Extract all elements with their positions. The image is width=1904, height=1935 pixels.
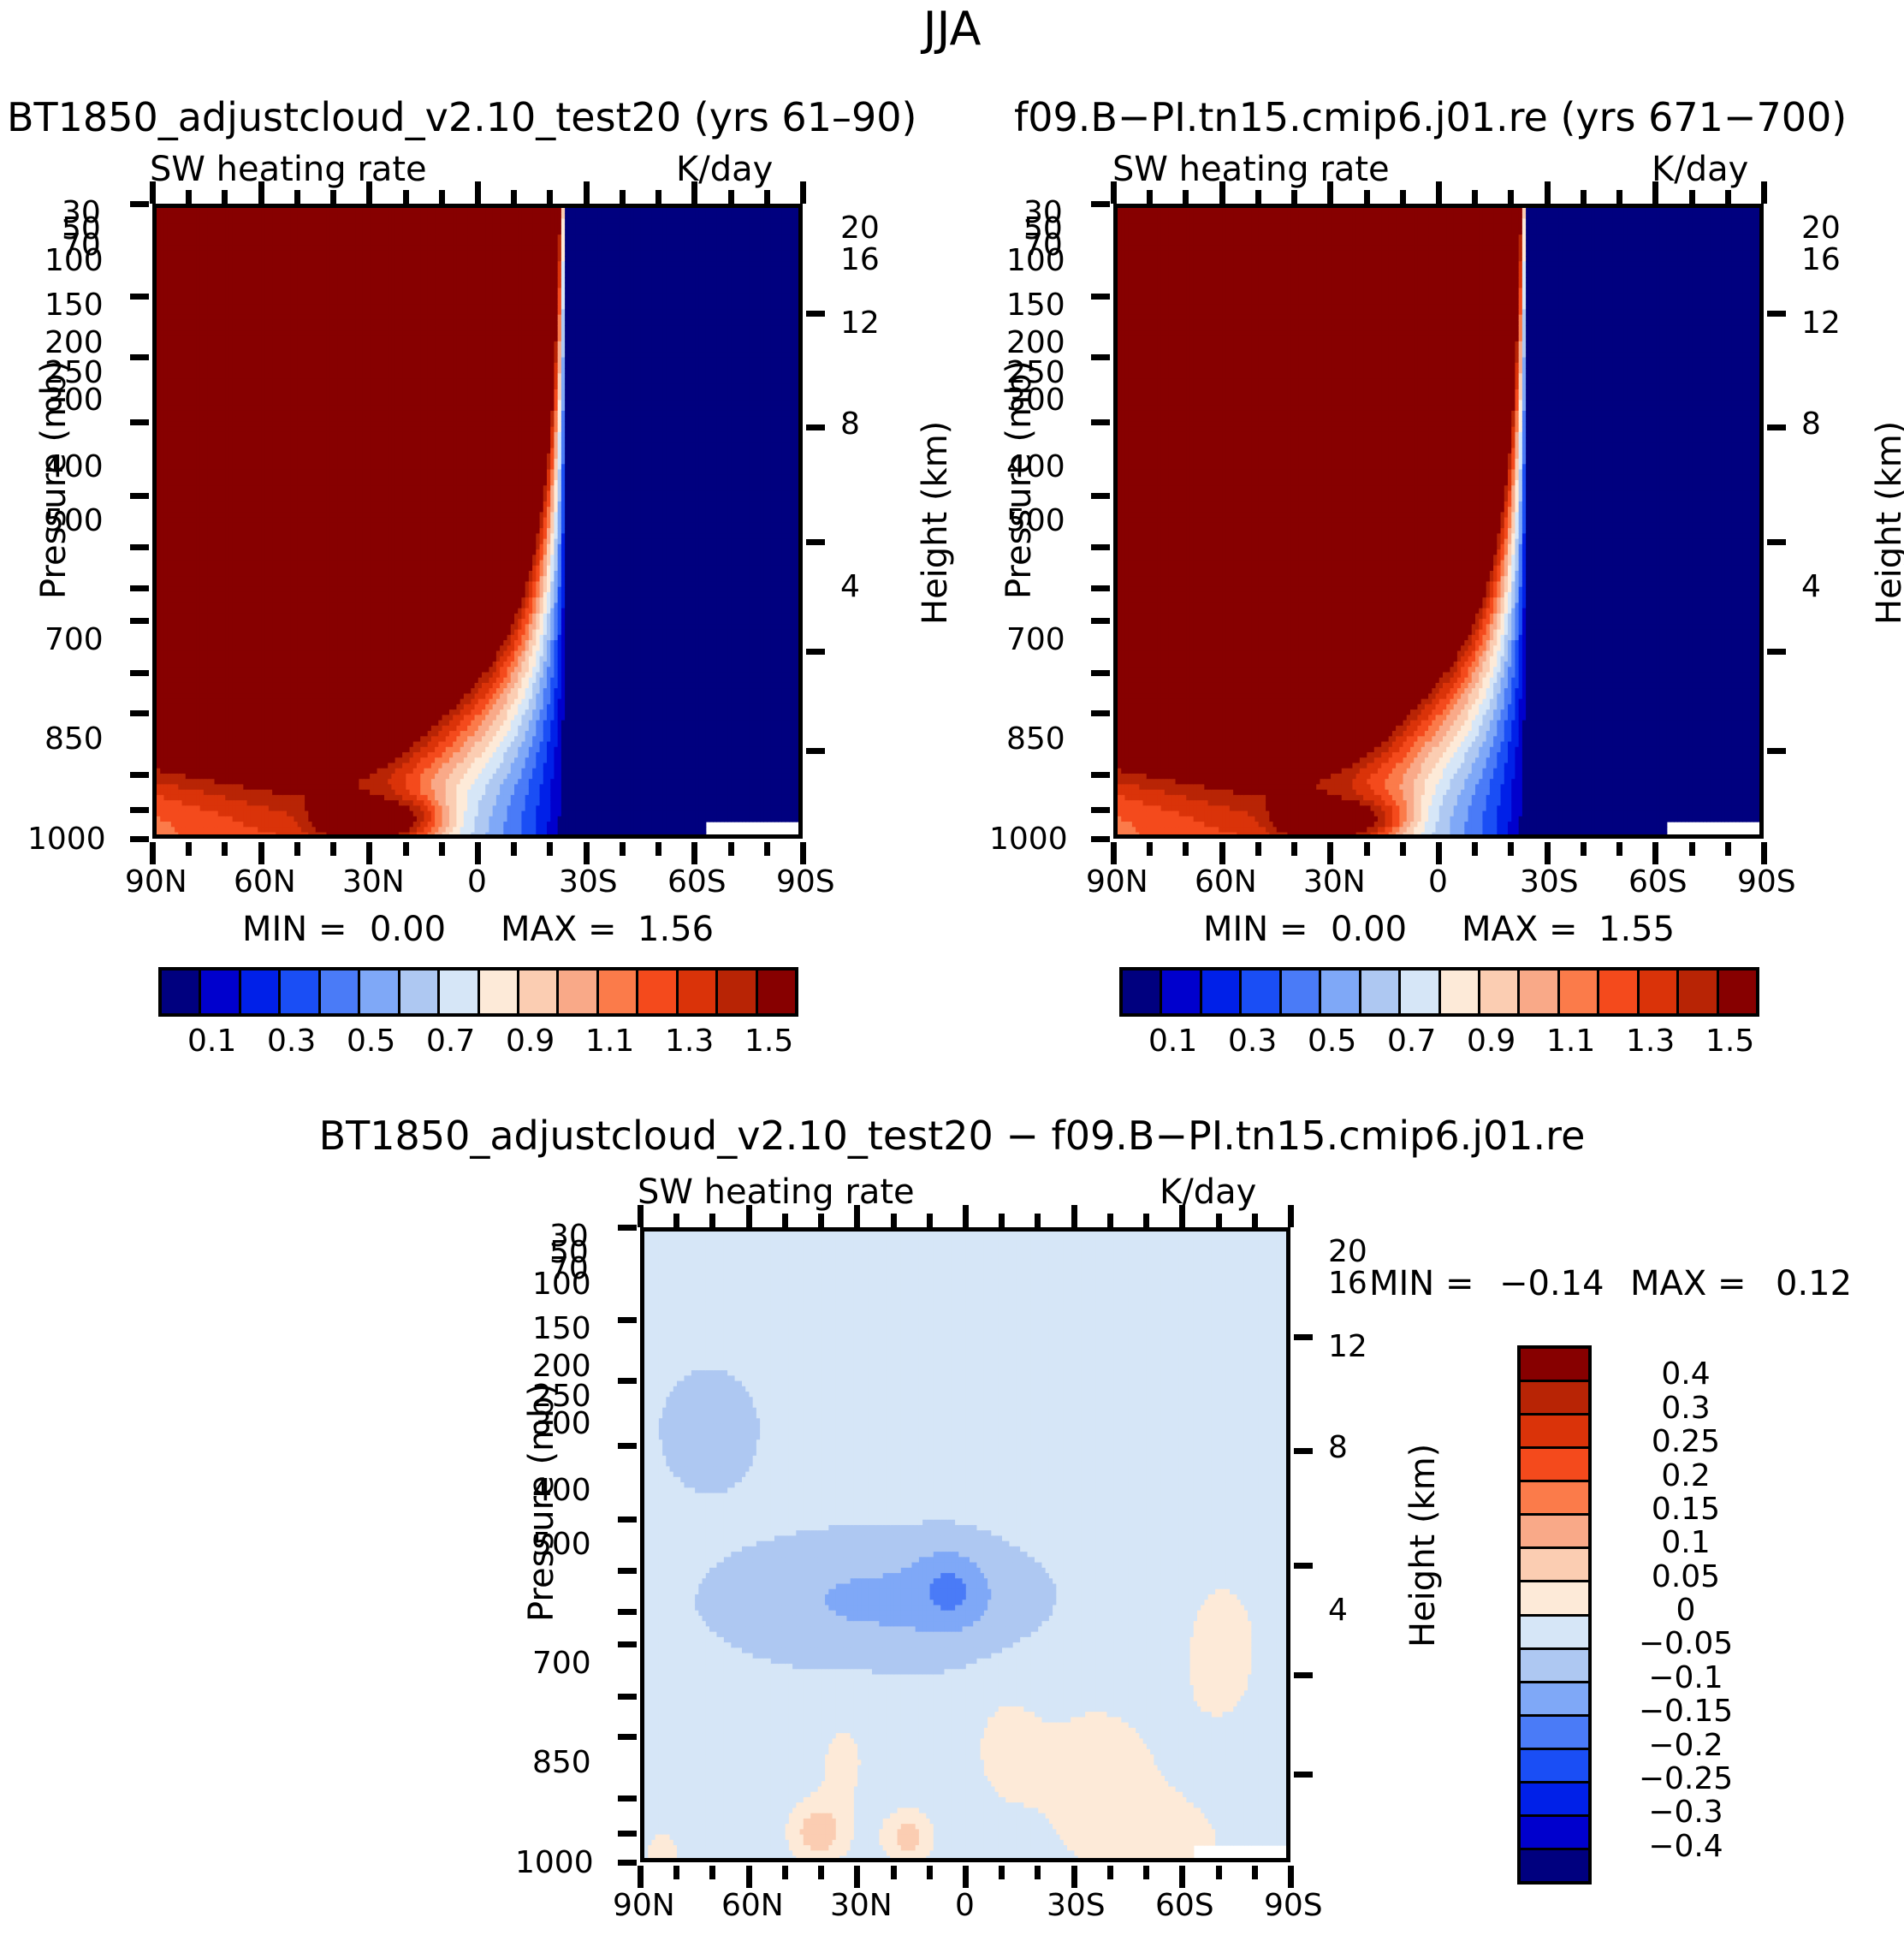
y-tick-mark xyxy=(618,1796,637,1801)
right-colorbar[interactable] xyxy=(1119,967,1759,1017)
ytick-700: 700 xyxy=(44,622,104,657)
x-minor-tick-mark xyxy=(1689,190,1695,204)
x-major-tick-mark xyxy=(1652,181,1658,204)
y-tick-mark xyxy=(1091,772,1110,778)
x-minor-tick-mark xyxy=(620,842,626,856)
x-minor-tick-mark xyxy=(673,1866,679,1879)
y-tick-mark xyxy=(1091,354,1110,360)
x-minor-tick-mark xyxy=(186,842,192,856)
diff-min-value: −0.14 xyxy=(1499,1264,1604,1303)
diff-colorbar-swatch-6 xyxy=(1521,1549,1588,1582)
x-minor-tick-mark xyxy=(1400,190,1406,204)
r-xtick-30S: 30S xyxy=(1520,864,1579,899)
height-tick-mark xyxy=(1767,748,1786,754)
y-tick-mark xyxy=(1091,618,1110,624)
x-major-tick-mark xyxy=(746,1205,752,1227)
colorbar-swatch-11 xyxy=(1560,970,1599,1013)
height-tick-mark xyxy=(1294,1563,1313,1569)
right-cb-lbl-5: 1.1 xyxy=(1546,1024,1595,1059)
diff-colorbar-labels: 0.40.30.250.20.150.10.050−0.05−0.1−0.15−… xyxy=(1609,1345,1823,1885)
y-tick-mark xyxy=(130,201,149,207)
colorbar-swatch-9 xyxy=(519,970,559,1013)
y-tick-mark xyxy=(1091,836,1110,842)
x-major-tick-mark xyxy=(366,181,372,204)
diff-colorbar-swatch-7 xyxy=(1521,1582,1588,1616)
x-minor-tick-mark xyxy=(673,1214,679,1227)
diff-colorbar-swatch-5 xyxy=(1521,1516,1588,1549)
right-cb-lbl-2: 0.5 xyxy=(1308,1024,1356,1059)
diff-units-label: K/day xyxy=(1160,1172,1256,1212)
right-contour-plot[interactable] xyxy=(1113,204,1764,839)
colorbar-swatch-3 xyxy=(281,970,320,1013)
x-minor-tick-mark xyxy=(728,190,734,204)
xtick-30N: 30N xyxy=(342,864,405,899)
diff-colorbar-label-12: −0.25 xyxy=(1609,1761,1763,1796)
x-major-tick-mark xyxy=(638,1205,644,1227)
diff-colorbar-label-11: −0.2 xyxy=(1609,1728,1763,1763)
r-ytick-700: 700 xyxy=(1006,622,1065,657)
x-minor-tick-mark xyxy=(764,842,770,856)
right-cb-lbl-1: 0.3 xyxy=(1228,1024,1277,1059)
diff-colorbar-swatch-10 xyxy=(1521,1683,1588,1717)
right-cb-lbl-4: 0.9 xyxy=(1467,1024,1515,1059)
colorbar-swatch-8 xyxy=(480,970,519,1013)
ytick-300: 300 xyxy=(44,383,104,418)
height-tick-mark xyxy=(1294,1448,1313,1454)
left-units-label: K/day xyxy=(676,150,773,189)
x-major-tick-mark xyxy=(1436,842,1442,864)
d-xtick-90N: 90N xyxy=(613,1888,675,1923)
y-tick-mark xyxy=(130,294,149,300)
x-major-tick-mark xyxy=(1071,1866,1077,1888)
x-minor-tick-mark xyxy=(1107,1866,1113,1879)
r-xtick-0: 0 xyxy=(1428,864,1448,899)
left-max-label: MAX = xyxy=(501,910,617,949)
d-htick-16: 16 xyxy=(1328,1266,1367,1301)
x-major-tick-mark xyxy=(150,842,156,864)
y-tick-mark xyxy=(130,670,149,676)
colorbar-swatch-14 xyxy=(1679,970,1718,1013)
y-tick-mark xyxy=(1091,201,1110,207)
right-cb-lbl-6: 1.3 xyxy=(1626,1024,1675,1059)
diff-panel-title: BT1850_adjustcloud_v2.10_test20 − f09.B−… xyxy=(0,1113,1904,1159)
x-minor-tick-mark xyxy=(1291,842,1297,856)
height-tick-mark xyxy=(806,539,825,545)
left-min-value: 0.00 xyxy=(370,910,446,949)
x-minor-tick-mark xyxy=(1616,190,1622,204)
y-tick-mark xyxy=(1091,294,1110,300)
right-panel-title: f09.B−PI.tn15.cmip6.j01.re (yrs 671−700) xyxy=(1014,94,1847,140)
x-major-tick-mark xyxy=(691,842,697,864)
colorbar-swatch-6 xyxy=(1361,970,1401,1013)
x-minor-tick-mark xyxy=(1689,842,1695,856)
x-major-tick-mark xyxy=(800,842,806,864)
y-tick-mark xyxy=(1091,807,1110,813)
y-tick-mark xyxy=(618,1641,637,1647)
x-minor-tick-mark xyxy=(728,842,734,856)
right-max-label: MAX = xyxy=(1462,910,1578,949)
colorbar-swatch-13 xyxy=(1640,970,1679,1013)
height-tick-mark xyxy=(1767,649,1786,655)
x-minor-tick-mark xyxy=(999,1866,1005,1879)
colorbar-swatch-4 xyxy=(321,970,360,1013)
x-minor-tick-mark xyxy=(1472,842,1478,856)
r-xtick-90S: 90S xyxy=(1737,864,1796,899)
x-minor-tick-mark xyxy=(1472,190,1478,204)
y-tick-mark xyxy=(1091,710,1110,716)
left-colorbar[interactable] xyxy=(158,967,798,1017)
y-tick-mark xyxy=(618,1225,637,1231)
r-ytick-1000: 1000 xyxy=(989,822,1068,857)
diff-colorbar-label-2: 0.25 xyxy=(1609,1424,1763,1459)
x-minor-tick-mark xyxy=(1508,190,1514,204)
height-tick-mark xyxy=(806,649,825,655)
xtick-60N: 60N xyxy=(234,864,296,899)
left-cb-lbl-2: 0.5 xyxy=(347,1024,395,1059)
x-major-tick-mark xyxy=(584,181,590,204)
x-major-tick-mark xyxy=(854,1866,860,1888)
y-tick-mark xyxy=(618,1694,637,1700)
x-minor-tick-mark xyxy=(818,1214,824,1227)
x-minor-tick-mark xyxy=(511,842,517,856)
x-minor-tick-mark xyxy=(222,842,228,856)
y-tick-mark xyxy=(1091,419,1110,425)
colorbar-swatch-7 xyxy=(440,970,479,1013)
right-cb-lbl-0: 0.1 xyxy=(1148,1024,1197,1059)
x-minor-tick-mark xyxy=(439,842,445,856)
r-htick-20: 20 xyxy=(1801,211,1841,246)
x-major-tick-mark xyxy=(1288,1866,1294,1888)
y-tick-mark xyxy=(130,354,149,360)
height-tick-mark xyxy=(1294,1334,1313,1340)
x-minor-tick-mark xyxy=(403,190,409,204)
left-var-label: SW heating rate xyxy=(150,150,427,189)
r-xtick-90N: 90N xyxy=(1086,864,1148,899)
x-minor-tick-mark xyxy=(1147,842,1153,856)
x-major-tick-mark xyxy=(854,1205,860,1227)
x-major-tick-mark xyxy=(1219,842,1225,864)
x-minor-tick-mark xyxy=(1400,842,1406,856)
colorbar-swatch-4 xyxy=(1282,970,1321,1013)
colorbar-swatch-13 xyxy=(679,970,718,1013)
y-tick-mark xyxy=(1091,493,1110,499)
x-minor-tick-mark xyxy=(403,842,409,856)
x-major-tick-mark xyxy=(800,181,806,204)
y-tick-mark xyxy=(618,1734,637,1740)
x-minor-tick-mark xyxy=(655,190,661,204)
x-major-tick-mark xyxy=(366,842,372,864)
ytick-150: 150 xyxy=(44,288,104,323)
x-major-tick-mark xyxy=(258,842,264,864)
height-tick-mark xyxy=(1294,1672,1313,1678)
x-major-tick-mark xyxy=(963,1205,969,1227)
y-tick-mark xyxy=(1091,544,1110,550)
x-minor-tick-mark xyxy=(1581,190,1587,204)
d-ytick-300: 300 xyxy=(532,1406,591,1441)
xtick-90S: 90S xyxy=(776,864,835,899)
diff-colorbar-label-0: 0.4 xyxy=(1609,1356,1763,1392)
x-minor-tick-mark xyxy=(1143,1214,1149,1227)
colorbar-swatch-2 xyxy=(241,970,281,1013)
diff-colorbar-swatch-2 xyxy=(1521,1416,1588,1449)
x-minor-tick-mark xyxy=(1616,842,1622,856)
d-ytick-400: 400 xyxy=(532,1473,591,1508)
x-minor-tick-mark xyxy=(891,1866,897,1879)
diff-min-label: MIN = xyxy=(1369,1264,1474,1303)
y-tick-mark xyxy=(130,772,149,778)
y-tick-mark xyxy=(130,419,149,425)
left-cb-lbl-5: 1.1 xyxy=(585,1024,634,1059)
x-major-tick-mark xyxy=(1179,1205,1185,1227)
diff-colorbar-swatch-1 xyxy=(1521,1382,1588,1416)
height-tick-mark xyxy=(1767,539,1786,545)
htick-4: 4 xyxy=(840,569,860,604)
x-major-tick-mark xyxy=(1219,181,1225,204)
diff-colorbar-label-9: −0.1 xyxy=(1609,1660,1763,1695)
r-ytick-850: 850 xyxy=(1006,721,1065,757)
r-htick-12: 12 xyxy=(1801,306,1841,341)
diff-colorbar-label-1: 0.3 xyxy=(1609,1391,1763,1426)
colorbar-swatch-0 xyxy=(1123,970,1162,1013)
right-var-label: SW heating rate xyxy=(1112,150,1390,189)
x-minor-tick-mark xyxy=(294,190,300,204)
y-tick-mark xyxy=(130,836,149,842)
diff-colorbar-label-3: 0.2 xyxy=(1609,1458,1763,1493)
left-cb-lbl-7: 1.5 xyxy=(744,1024,793,1059)
y-tick-mark xyxy=(130,493,149,499)
x-minor-tick-mark xyxy=(547,842,553,856)
x-minor-tick-mark xyxy=(927,1214,933,1227)
diff-colorbar-swatch-14 xyxy=(1521,1817,1588,1850)
y-tick-mark xyxy=(618,1378,637,1384)
diff-contour-plot[interactable] xyxy=(640,1227,1290,1862)
diff-var-label: SW heating rate xyxy=(638,1172,915,1212)
x-minor-tick-mark xyxy=(1252,1214,1258,1227)
r-ytick-400: 400 xyxy=(1006,449,1065,484)
d-ytick-100: 100 xyxy=(532,1267,591,1302)
colorbar-swatch-0 xyxy=(162,970,201,1013)
y-tick-mark xyxy=(618,1860,637,1866)
diff-colorbar-swatch-13 xyxy=(1521,1784,1588,1817)
y-tick-mark xyxy=(130,618,149,624)
d-xtick-60N: 60N xyxy=(721,1888,784,1923)
x-minor-tick-mark xyxy=(1107,1214,1113,1227)
x-major-tick-mark xyxy=(475,181,481,204)
d-ytick-1000: 1000 xyxy=(515,1845,594,1880)
x-minor-tick-mark xyxy=(1183,190,1189,204)
x-minor-tick-mark xyxy=(782,1214,788,1227)
height-tick-mark xyxy=(806,748,825,754)
r-ytick-300: 300 xyxy=(1006,383,1065,418)
colorbar-swatch-5 xyxy=(1321,970,1361,1013)
x-major-tick-mark xyxy=(1761,181,1767,204)
diff-colorbar-label-6: 0.05 xyxy=(1609,1559,1763,1594)
x-minor-tick-mark xyxy=(1147,190,1153,204)
left-cb-lbl-1: 0.3 xyxy=(267,1024,316,1059)
r-htick-8: 8 xyxy=(1801,407,1821,442)
xtick-30S: 30S xyxy=(559,864,618,899)
d-ytick-850: 850 xyxy=(532,1745,591,1780)
x-minor-tick-mark xyxy=(294,842,300,856)
x-minor-tick-mark xyxy=(511,190,517,204)
colorbar-swatch-3 xyxy=(1242,970,1281,1013)
y-tick-mark xyxy=(130,710,149,716)
x-minor-tick-mark xyxy=(1035,1866,1041,1879)
ytick-850: 850 xyxy=(44,721,104,757)
right-max-value: 1.55 xyxy=(1599,910,1675,949)
r-xtick-60N: 60N xyxy=(1195,864,1257,899)
r-htick-16: 16 xyxy=(1801,242,1841,277)
colorbar-swatch-15 xyxy=(1719,970,1756,1013)
diff-colorbar-label-7: 0 xyxy=(1609,1593,1763,1628)
x-minor-tick-mark xyxy=(1255,190,1261,204)
x-minor-tick-mark xyxy=(186,190,192,204)
x-minor-tick-mark xyxy=(439,190,445,204)
d-ytick-500: 500 xyxy=(532,1527,591,1562)
y-tick-mark xyxy=(618,1443,637,1449)
x-minor-tick-mark xyxy=(1216,1214,1222,1227)
right-cb-lbl-3: 0.7 xyxy=(1387,1024,1436,1059)
ytick-400: 400 xyxy=(44,449,104,484)
x-major-tick-mark xyxy=(1111,842,1117,864)
x-minor-tick-mark xyxy=(1216,1866,1222,1879)
x-minor-tick-mark xyxy=(1581,842,1587,856)
y-tick-mark xyxy=(618,1317,637,1323)
x-minor-tick-mark xyxy=(1255,842,1261,856)
x-minor-tick-mark xyxy=(818,1866,824,1879)
x-minor-tick-mark xyxy=(782,1866,788,1879)
x-major-tick-mark xyxy=(258,181,264,204)
height-tick-mark xyxy=(1294,1772,1313,1778)
colorbar-swatch-1 xyxy=(1162,970,1201,1013)
diff-colorbar-label-10: −0.15 xyxy=(1609,1694,1763,1729)
x-minor-tick-mark xyxy=(999,1214,1005,1227)
y-tick-mark xyxy=(618,1517,637,1522)
colorbar-swatch-9 xyxy=(1480,970,1520,1013)
left-min-label: MIN = xyxy=(242,910,347,949)
diff-colorbar-swatch-3 xyxy=(1521,1449,1588,1482)
diff-colorbar-label-8: −0.05 xyxy=(1609,1626,1763,1661)
x-minor-tick-mark xyxy=(620,190,626,204)
x-major-tick-mark xyxy=(1179,1866,1185,1888)
diff-max-label: MAX = xyxy=(1630,1264,1747,1303)
diff-colorbar-swatch-15 xyxy=(1521,1850,1588,1881)
right-min-label: MIN = xyxy=(1203,910,1308,949)
r-xtick-60S: 60S xyxy=(1628,864,1688,899)
colorbar-swatch-12 xyxy=(1599,970,1639,1013)
x-minor-tick-mark xyxy=(1291,190,1297,204)
y-tick-mark xyxy=(1091,670,1110,676)
right-height-axis-title: Height (km) xyxy=(1870,421,1904,625)
xtick-60S: 60S xyxy=(667,864,727,899)
left-contour-plot[interactable] xyxy=(152,204,803,839)
d-xtick-60S: 60S xyxy=(1155,1888,1214,1923)
x-major-tick-mark xyxy=(475,842,481,864)
d-htick-12: 12 xyxy=(1328,1329,1367,1364)
x-minor-tick-mark xyxy=(1252,1866,1258,1879)
right-units-label: K/day xyxy=(1652,150,1748,189)
r-ytick-500: 500 xyxy=(1006,503,1065,538)
colorbar-swatch-12 xyxy=(638,970,678,1013)
y-tick-mark xyxy=(618,1831,637,1837)
d-ytick-150: 150 xyxy=(532,1311,591,1346)
colorbar-swatch-14 xyxy=(718,970,757,1013)
diff-contour-field xyxy=(644,1232,1290,1862)
d-xtick-0: 0 xyxy=(955,1888,975,1923)
r-htick-4: 4 xyxy=(1801,569,1821,604)
x-minor-tick-mark xyxy=(1035,1214,1041,1227)
right-cb-lbl-7: 1.5 xyxy=(1705,1024,1754,1059)
diff-colorbar-swatch-11 xyxy=(1521,1717,1588,1750)
colorbar-swatch-1 xyxy=(201,970,240,1013)
left-height-axis-title: Height (km) xyxy=(916,421,955,625)
diff-colorbar[interactable] xyxy=(1517,1345,1592,1885)
xtick-0: 0 xyxy=(467,864,487,899)
height-tick-mark xyxy=(806,311,825,317)
ytick-100: 100 xyxy=(44,243,104,278)
x-minor-tick-mark xyxy=(222,190,228,204)
x-minor-tick-mark xyxy=(330,190,336,204)
x-major-tick-mark xyxy=(1327,842,1333,864)
x-major-tick-mark xyxy=(1436,181,1442,204)
left-cb-lbl-0: 0.1 xyxy=(187,1024,236,1059)
r-ytick-100: 100 xyxy=(1006,243,1065,278)
x-minor-tick-mark xyxy=(927,1866,933,1879)
left-cb-lbl-3: 0.7 xyxy=(426,1024,475,1059)
y-tick-mark xyxy=(618,1568,637,1574)
left-cb-lbl-4: 0.9 xyxy=(506,1024,555,1059)
diff-height-axis-title: Height (km) xyxy=(1403,1444,1443,1647)
r-xtick-30N: 30N xyxy=(1303,864,1366,899)
htick-8: 8 xyxy=(840,407,860,442)
d-xtick-30S: 30S xyxy=(1047,1888,1106,1923)
x-minor-tick-mark xyxy=(547,190,553,204)
diff-colorbar-label-13: −0.3 xyxy=(1609,1795,1763,1830)
x-major-tick-mark xyxy=(150,181,156,204)
x-minor-tick-mark xyxy=(1725,842,1731,856)
left-contour-field xyxy=(157,208,803,839)
diff-colorbar-swatch-0 xyxy=(1521,1349,1588,1382)
x-major-tick-mark xyxy=(746,1866,752,1888)
x-major-tick-mark xyxy=(1545,842,1551,864)
diff-colorbar-swatch-8 xyxy=(1521,1617,1588,1650)
x-minor-tick-mark xyxy=(330,842,336,856)
ytick-1000: 1000 xyxy=(27,822,106,857)
diff-colorbar-label-4: 0.15 xyxy=(1609,1492,1763,1527)
x-minor-tick-mark xyxy=(1364,190,1370,204)
x-major-tick-mark xyxy=(963,1866,969,1888)
x-minor-tick-mark xyxy=(1508,842,1514,856)
y-tick-mark xyxy=(130,585,149,591)
y-tick-mark xyxy=(618,1609,637,1615)
xtick-90N: 90N xyxy=(125,864,187,899)
colorbar-swatch-8 xyxy=(1441,970,1480,1013)
y-tick-mark xyxy=(130,807,149,813)
diff-colorbar-label-5: 0.1 xyxy=(1609,1525,1763,1560)
x-minor-tick-mark xyxy=(1364,842,1370,856)
x-major-tick-mark xyxy=(1327,181,1333,204)
x-major-tick-mark xyxy=(1761,842,1767,864)
y-tick-mark xyxy=(1091,585,1110,591)
colorbar-swatch-7 xyxy=(1401,970,1440,1013)
colorbar-swatch-11 xyxy=(599,970,638,1013)
x-major-tick-mark xyxy=(1111,181,1117,204)
d-htick-20: 20 xyxy=(1328,1234,1367,1269)
x-major-tick-mark xyxy=(1545,181,1551,204)
colorbar-swatch-15 xyxy=(758,970,795,1013)
x-minor-tick-mark xyxy=(1183,842,1189,856)
height-tick-mark xyxy=(1767,311,1786,317)
